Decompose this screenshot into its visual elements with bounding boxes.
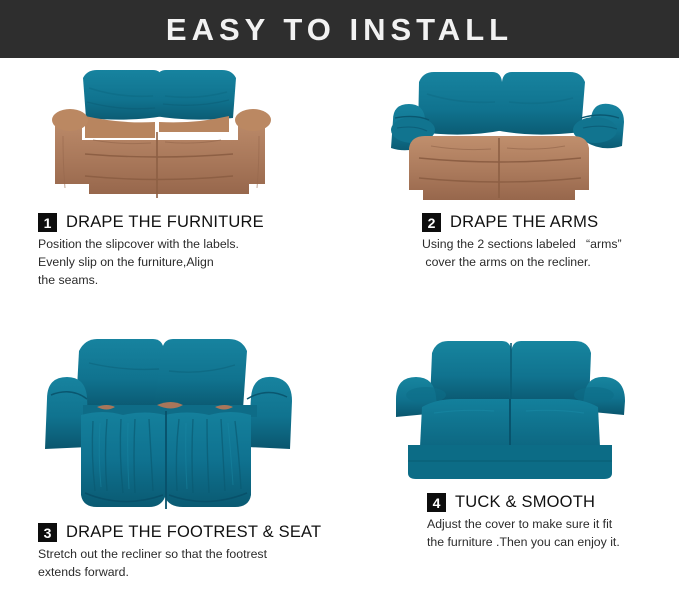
- step-4-heading: TUCK & SMOOTH: [455, 493, 595, 512]
- page-banner: EASY TO INSTALL: [0, 0, 679, 58]
- step-2-caption: 2 DRAPE THE ARMS Using the 2 sections la…: [0, 213, 679, 272]
- step-2-body-line-1: Using the 2 sections labeled “arms”: [422, 236, 671, 254]
- recliner-finished-smooth-illustration: [388, 333, 632, 483]
- step-4-body-line-1: Adjust the cover to make sure it fit: [427, 516, 671, 534]
- recliner-footrest-seat-draped-illustration: [39, 333, 301, 513]
- step-4-figure: [340, 333, 679, 493]
- page-title: EASY TO INSTALL: [166, 14, 513, 45]
- step-4-heading-row: 4 TUCK & SMOOTH: [427, 493, 671, 512]
- step-2-body: Using the 2 sections labeled “arms” cove…: [422, 236, 671, 272]
- step-1-body-line-3: the seams.: [38, 272, 332, 290]
- step-2-heading-row: 2 DRAPE THE ARMS: [422, 213, 671, 232]
- recliner-back-draped-illustration: [45, 58, 295, 210]
- step-4-body-line-2: the furniture .Then you can enjoy it.: [427, 534, 671, 552]
- step-4-body: Adjust the cover to make sure it fit the…: [427, 516, 671, 552]
- recliner-arms-draped-illustration: [385, 58, 635, 210]
- step-card-2: 2 DRAPE THE ARMS Using the 2 sections la…: [340, 58, 679, 333]
- step-card-3: 3 DRAPE THE FOOTREST & SEAT Stretch out …: [0, 333, 340, 605]
- step-number-badge-4: 4: [427, 493, 446, 512]
- step-3-body-line-2: extends forward.: [38, 564, 332, 582]
- step-number-badge-2: 2: [422, 213, 441, 232]
- step-2-heading: DRAPE THE ARMS: [450, 213, 598, 232]
- step-card-1: 1 DRAPE THE FURNITURE Position the slipc…: [0, 58, 340, 333]
- step-2-figure: [340, 58, 679, 213]
- step-2-body-line-2: cover the arms on the recliner.: [422, 254, 671, 272]
- step-4-caption: 4 TUCK & SMOOTH Adjust the cover to make…: [0, 493, 679, 552]
- step-1-figure: [0, 58, 340, 213]
- step-card-4: 4 TUCK & SMOOTH Adjust the cover to make…: [340, 333, 679, 605]
- steps-grid: 1 DRAPE THE FURNITURE Position the slipc…: [0, 58, 679, 605]
